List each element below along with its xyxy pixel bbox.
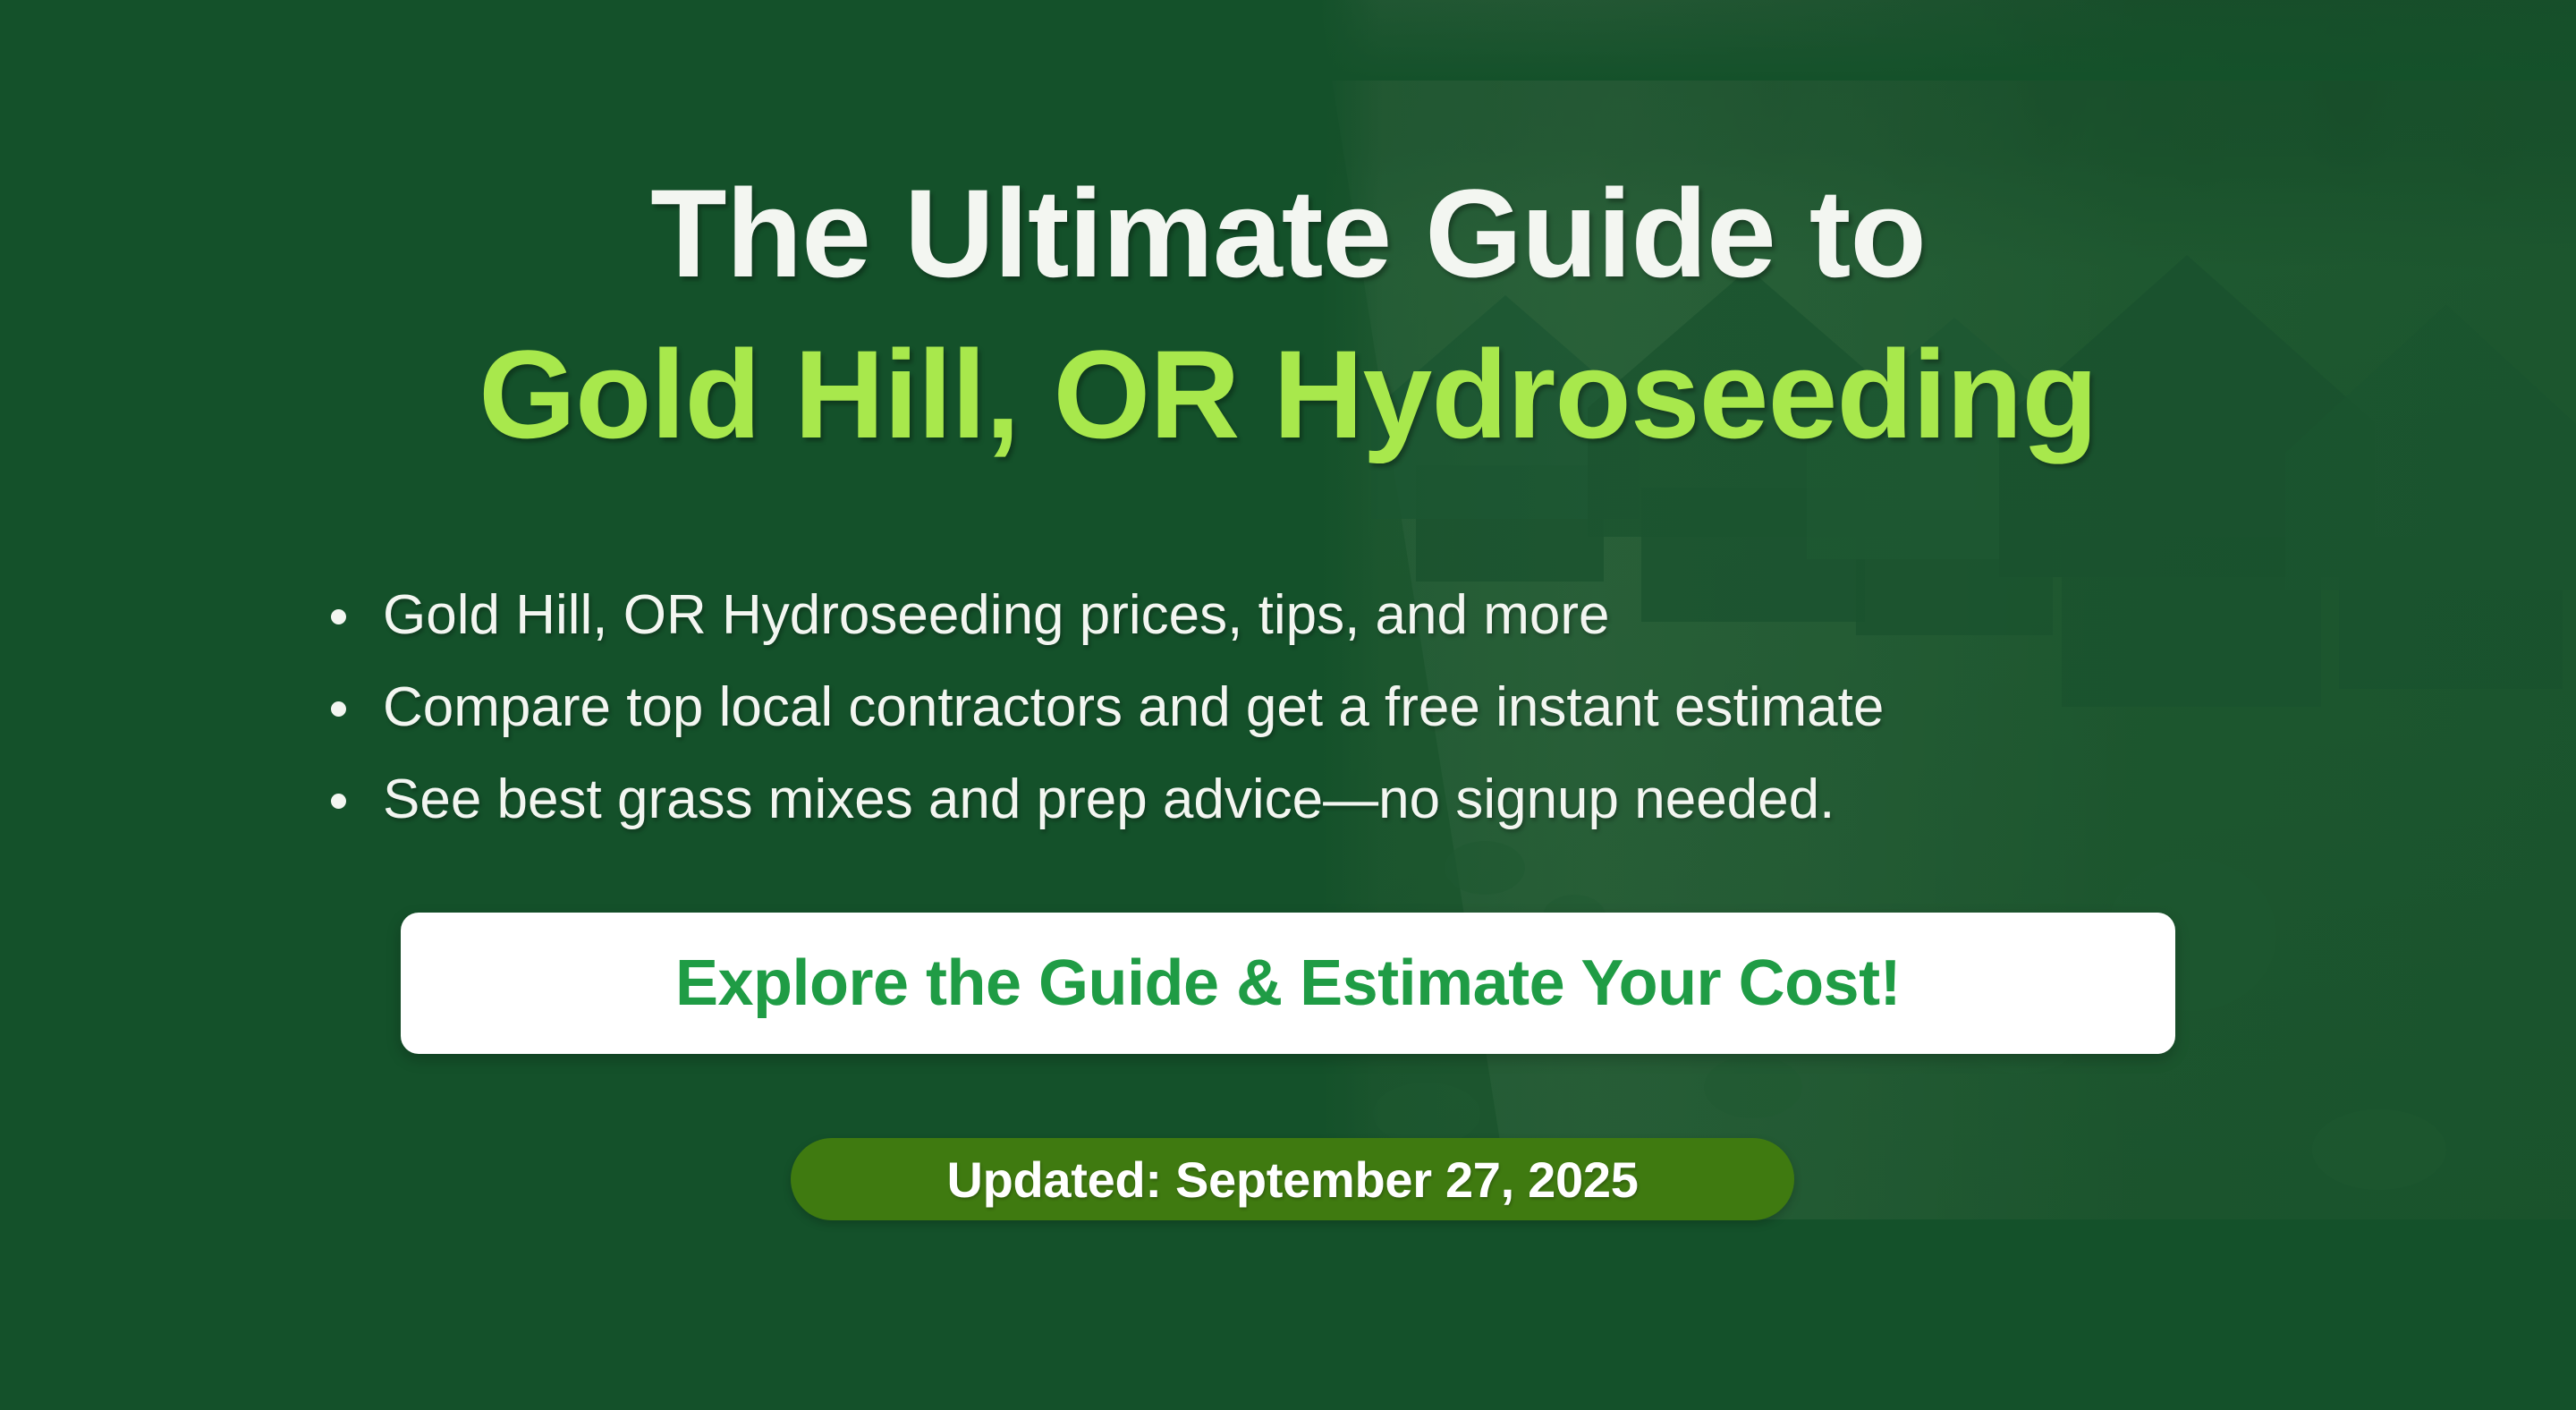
explore-guide-cta-button[interactable]: Explore the Guide & Estimate Your Cost! xyxy=(401,913,2175,1054)
page-title-line1: The Ultimate Guide to xyxy=(0,170,2576,298)
list-item: See best grass mixes and prep advice—no … xyxy=(327,770,1884,828)
list-item: Compare top local contractors and get a … xyxy=(327,678,1884,736)
benefits-list: Gold Hill, OR Hydroseeding prices, tips,… xyxy=(327,586,1884,862)
hero-content: The Ultimate Guide to Gold Hill, OR Hydr… xyxy=(0,0,2576,1410)
cta-button-label: Explore the Guide & Estimate Your Cost! xyxy=(675,947,1901,1020)
page-title-line2: Gold Hill, OR Hydroseeding xyxy=(0,331,2576,459)
last-updated-badge: Updated: September 27, 2025 xyxy=(791,1138,1794,1220)
last-updated-label: Updated: September 27, 2025 xyxy=(946,1151,1638,1209)
list-item: Gold Hill, OR Hydroseeding prices, tips,… xyxy=(327,586,1884,644)
hero-banner: The Ultimate Guide to Gold Hill, OR Hydr… xyxy=(0,0,2576,1410)
